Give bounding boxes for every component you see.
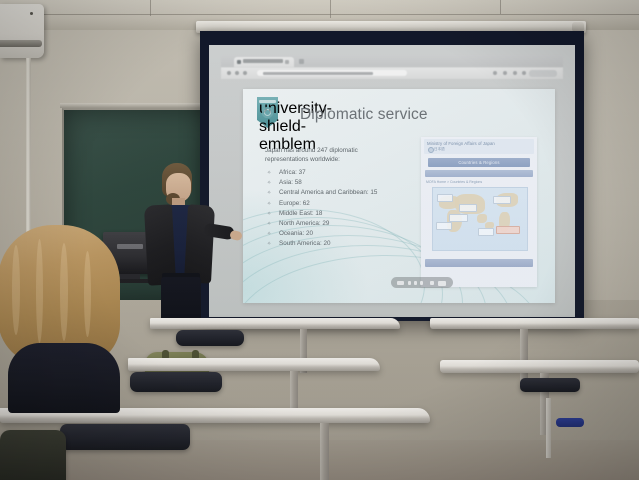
map-label: [449, 214, 468, 222]
map-label: [478, 228, 494, 236]
fullscreen-icon[interactable]: [438, 281, 446, 286]
presenter-standing: [134, 163, 238, 323]
map-label-highlight: [496, 226, 520, 234]
presentation-toolbar[interactable]: [391, 277, 453, 288]
presentation-slide: university-shield-emblem Diplomatic serv…: [243, 89, 555, 303]
language-label[interactable]: 日本語: [434, 147, 445, 152]
prev-icon[interactable]: [397, 281, 404, 285]
chair-leg: [546, 398, 551, 458]
classroom-chair: [176, 330, 244, 346]
address-bar-url: [263, 72, 373, 75]
slide-bullet-list: Africa: 37 Asia: 58 Central America and …: [265, 168, 437, 250]
list-item: South America: 20: [265, 239, 437, 249]
classroom-desk: [128, 358, 380, 371]
reload-icon[interactable]: [243, 71, 247, 75]
mofa-nav-bar[interactable]: Countries & Regions: [428, 158, 530, 167]
mofa-subnav-bar[interactable]: [425, 170, 533, 177]
new-tab-icon[interactable]: [299, 59, 304, 64]
classroom-presentation-photo: university-shield-emblem Diplomatic serv…: [0, 0, 639, 480]
tab-title-text: [243, 59, 283, 63]
play-icon[interactable]: [408, 281, 411, 285]
student-seated-foreground: [0, 225, 130, 410]
air-conditioner: [0, 4, 44, 58]
forward-icon[interactable]: [235, 71, 239, 75]
classroom-desk: [440, 360, 639, 373]
map-label: [437, 194, 453, 202]
presenter-jacket-right: [184, 204, 215, 283]
classroom-chair: [0, 430, 66, 480]
ac-indicator-icon: [30, 12, 33, 15]
mofa-nav-label: Countries & Regions: [428, 160, 530, 165]
list-item: Europe: 62: [265, 199, 437, 209]
list-item: Asia: 58: [265, 178, 437, 188]
classroom-chair: [60, 424, 190, 450]
map-label: [436, 222, 452, 230]
classroom-desk: [150, 318, 400, 329]
slide-lead-text: Japan has around 247 diplomatic represen…: [265, 146, 395, 165]
back-icon[interactable]: [227, 71, 231, 75]
student-jacket: [8, 343, 120, 413]
tab-favicon-icon: [237, 60, 241, 64]
browser-window: [221, 55, 563, 79]
menu-icon[interactable]: [522, 71, 526, 75]
list-item: Middle East: 18: [265, 209, 437, 219]
list-item: Oceania: 20: [265, 229, 437, 239]
mofa-site-title: Ministry of Foreign Affairs of Japan: [427, 141, 495, 146]
chair-seat: [556, 418, 584, 427]
classroom-chair: [520, 378, 580, 392]
list-item: Central America and Caribbean: 15: [265, 188, 437, 198]
world-map: [432, 187, 528, 251]
breadcrumb: MOFA Home > Countries & Regions: [426, 180, 482, 184]
menu-icon[interactable]: [430, 281, 434, 285]
slide-title: Diplomatic service: [300, 106, 428, 124]
ac-vent: [0, 40, 42, 47]
avatar[interactable]: [513, 71, 517, 75]
mofa-footer-bar: [425, 259, 533, 267]
list-item: North America: 29: [265, 219, 437, 229]
next-icon[interactable]: [414, 281, 417, 285]
desk-leg: [320, 423, 329, 480]
bookmark-icon[interactable]: [503, 71, 507, 75]
classroom-desk: [430, 318, 639, 329]
list-item: Africa: 37: [265, 168, 437, 178]
map-label: [459, 204, 477, 212]
mofa-webpage-screenshot: Ministry of Foreign Affairs of Japan 日本語…: [421, 137, 537, 287]
emblem-text: university-shield-emblem: [259, 100, 276, 103]
extensions-icon[interactable]: [493, 71, 497, 75]
pen-icon[interactable]: [420, 281, 423, 285]
profile-chip[interactable]: [529, 70, 557, 77]
map-label: [493, 196, 511, 204]
close-tab-icon[interactable]: [285, 60, 289, 64]
projected-screen: university-shield-emblem Diplomatic serv…: [209, 45, 575, 317]
emblem-core-icon: [265, 110, 270, 115]
classroom-chair: [130, 372, 222, 392]
